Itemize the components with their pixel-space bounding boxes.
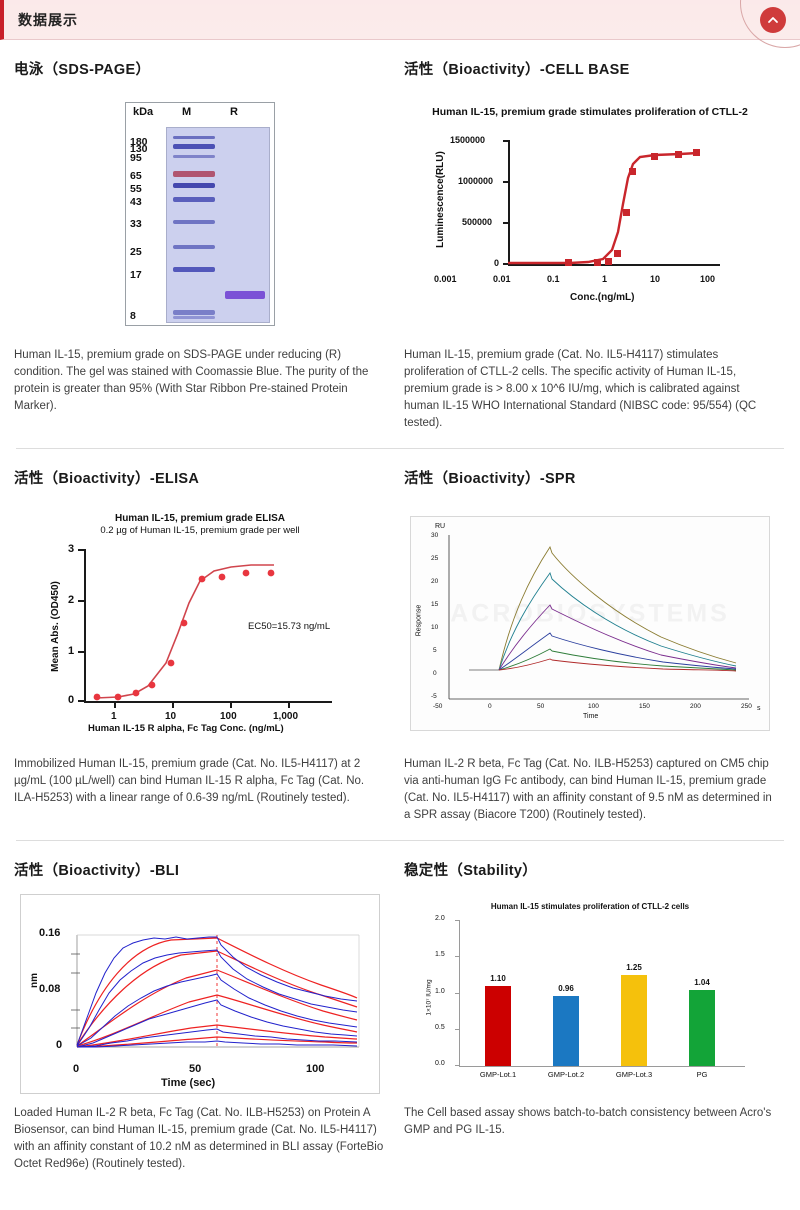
gel-ladder-label: 95 (130, 152, 142, 164)
caption-stability: The Cell based assay shows batch-to-batc… (404, 1105, 776, 1139)
bar-gmp-lot-1 (485, 986, 511, 1066)
gel-ladder-label: 33 (130, 218, 142, 230)
y-tick (455, 1029, 460, 1030)
sample-band (225, 291, 265, 299)
gel-ladder-label: 43 (130, 196, 142, 208)
marker-band (173, 144, 215, 149)
gel-header-marker: M (182, 106, 191, 118)
gel-ladder-label: 17 (130, 269, 142, 281)
bar-gmp-lot-2 (553, 996, 579, 1066)
caption-spr: Human IL-2 R beta, Fc Tag (Cat. No. ILB-… (404, 756, 776, 824)
x-axis-line (459, 1066, 745, 1067)
y-tick-label: 0.0 (435, 1060, 445, 1067)
y-tick-label: 1.0 (435, 988, 445, 995)
bar-value-label: 1.25 (618, 963, 650, 972)
y-tick (455, 993, 460, 994)
bar-value-label: 1.04 (686, 978, 718, 987)
caption-cell-base: Human IL-15, premium grade (Cat. No. IL5… (404, 347, 776, 432)
section-spr: 活性（Bioactivity）-SPR ACROBIOSYSTEMS RU s … (404, 449, 776, 824)
section-cell-base: 活性（Bioactivity）-CELL BASE Human IL-15, p… (404, 40, 776, 432)
sds-page-gel-image: kDa M R 180 130 95 65 55 43 33 25 17 8 (125, 102, 275, 326)
chart-spr: ACROBIOSYSTEMS RU s Response Time 30 25 … (410, 516, 770, 731)
panel-header: 数据展示 (0, 0, 800, 40)
section-stability: 稳定性（Stability） Human IL-15 stimulates pr… (404, 841, 776, 1173)
gel-ladder-label: 8 (130, 310, 136, 322)
marker-band (173, 316, 215, 319)
marker-band (173, 220, 215, 224)
y-axis-label: 1×10⁷ IU/mg (426, 979, 433, 1015)
bar-value-label: 1.10 (482, 974, 514, 983)
bar-pg (689, 990, 715, 1066)
row-3: 活性（Bioactivity）-BLI 0.16 0.08 0 nm 0 50 … (14, 841, 786, 1173)
marker-band (173, 136, 215, 139)
marker-band (173, 267, 215, 272)
marker-band (173, 183, 215, 188)
chart-stability: Human IL-15 stimulates proliferation of … (425, 894, 755, 1094)
section-title-bli: 活性（Bioactivity）-BLI (14, 859, 386, 880)
row-2: 活性（Bioactivity）-ELISA Human IL-15, premi… (14, 449, 786, 824)
x-tick-label: GMP-Lot.2 (543, 1070, 589, 1079)
gel-ladder-label: 65 (130, 170, 142, 182)
x-tick-label: PG (679, 1070, 725, 1079)
chart-elisa: Human IL-15, premium grade ELISA 0.2 µg … (26, 511, 374, 736)
section-title-cell-base: 活性（Bioactivity）-CELL BASE (404, 58, 776, 79)
chevron-up-icon[interactable] (760, 7, 786, 33)
section-bli: 活性（Bioactivity）-BLI 0.16 0.08 0 nm 0 50 … (14, 841, 386, 1173)
marker-band (173, 245, 215, 249)
content-grid: 电泳（SDS-PAGE） kDa M R 180 130 95 65 55 43… (0, 40, 800, 1173)
caption-sds-page: Human IL-15, premium grade on SDS-PAGE u… (14, 347, 386, 415)
cell-base-plot (420, 104, 760, 304)
gel-lanes (166, 127, 270, 323)
section-title-sds-page: 电泳（SDS-PAGE） (14, 58, 386, 79)
spr-sensorgram (411, 517, 771, 732)
section-title-stability: 稳定性（Stability） (404, 859, 776, 880)
marker-band (173, 197, 215, 202)
elisa-plot (26, 511, 374, 736)
section-elisa: 活性（Bioactivity）-ELISA Human IL-15, premi… (14, 449, 386, 824)
bar-value-label: 0.96 (550, 984, 582, 993)
y-tick-label: 1.5 (435, 951, 445, 958)
row-1: 电泳（SDS-PAGE） kDa M R 180 130 95 65 55 43… (14, 40, 786, 432)
gel-header-reduced: R (230, 106, 238, 118)
figure-sds-page: kDa M R 180 130 95 65 55 43 33 25 17 8 (14, 85, 386, 343)
gel-ladder-label: 55 (130, 183, 142, 195)
section-title-spr: 活性（Bioactivity）-SPR (404, 467, 776, 488)
y-tick (455, 920, 460, 921)
caption-bli: Loaded Human IL-2 R beta, Fc Tag (Cat. N… (14, 1105, 386, 1173)
marker-band (173, 155, 215, 158)
x-tick-label: GMP-Lot.3 (611, 1070, 657, 1079)
bar-gmp-lot-3 (621, 975, 647, 1066)
figure-bli: 0.16 0.08 0 nm 0 50 100 Time (sec) (14, 886, 386, 1101)
chart-title-stability: Human IL-15 stimulates proliferation of … (425, 902, 755, 911)
page-title: 数据展示 (18, 10, 78, 30)
x-tick-label: GMP-Lot.1 (475, 1070, 521, 1079)
y-tick (455, 1065, 460, 1066)
gel-header-kda: kDa (133, 106, 153, 118)
y-tick-label: 0.5 (435, 1024, 445, 1031)
marker-band (173, 171, 215, 177)
bli-sensorgram (21, 895, 381, 1095)
figure-spr: ACROBIOSYSTEMS RU s Response Time 30 25 … (404, 494, 776, 752)
y-tick (455, 956, 460, 957)
section-title-elisa: 活性（Bioactivity）-ELISA (14, 467, 386, 488)
y-tick-label: 2.0 (435, 915, 445, 922)
section-sds-page: 电泳（SDS-PAGE） kDa M R 180 130 95 65 55 43… (14, 40, 386, 432)
caption-elisa: Immobilized Human IL-15, premium grade (… (14, 756, 386, 807)
marker-band (173, 310, 215, 315)
figure-elisa: Human IL-15, premium grade ELISA 0.2 µg … (14, 494, 386, 752)
gel-ladder-label: 25 (130, 246, 142, 258)
figure-cell-base: Human IL-15, premium grade stimulates pr… (404, 85, 776, 343)
gel-lane-headers: kDa M R (126, 106, 274, 124)
chart-cell-base: Human IL-15, premium grade stimulates pr… (420, 104, 760, 324)
figure-stability: Human IL-15 stimulates proliferation of … (404, 886, 776, 1101)
chart-bli: 0.16 0.08 0 nm 0 50 100 Time (sec) (20, 894, 380, 1094)
